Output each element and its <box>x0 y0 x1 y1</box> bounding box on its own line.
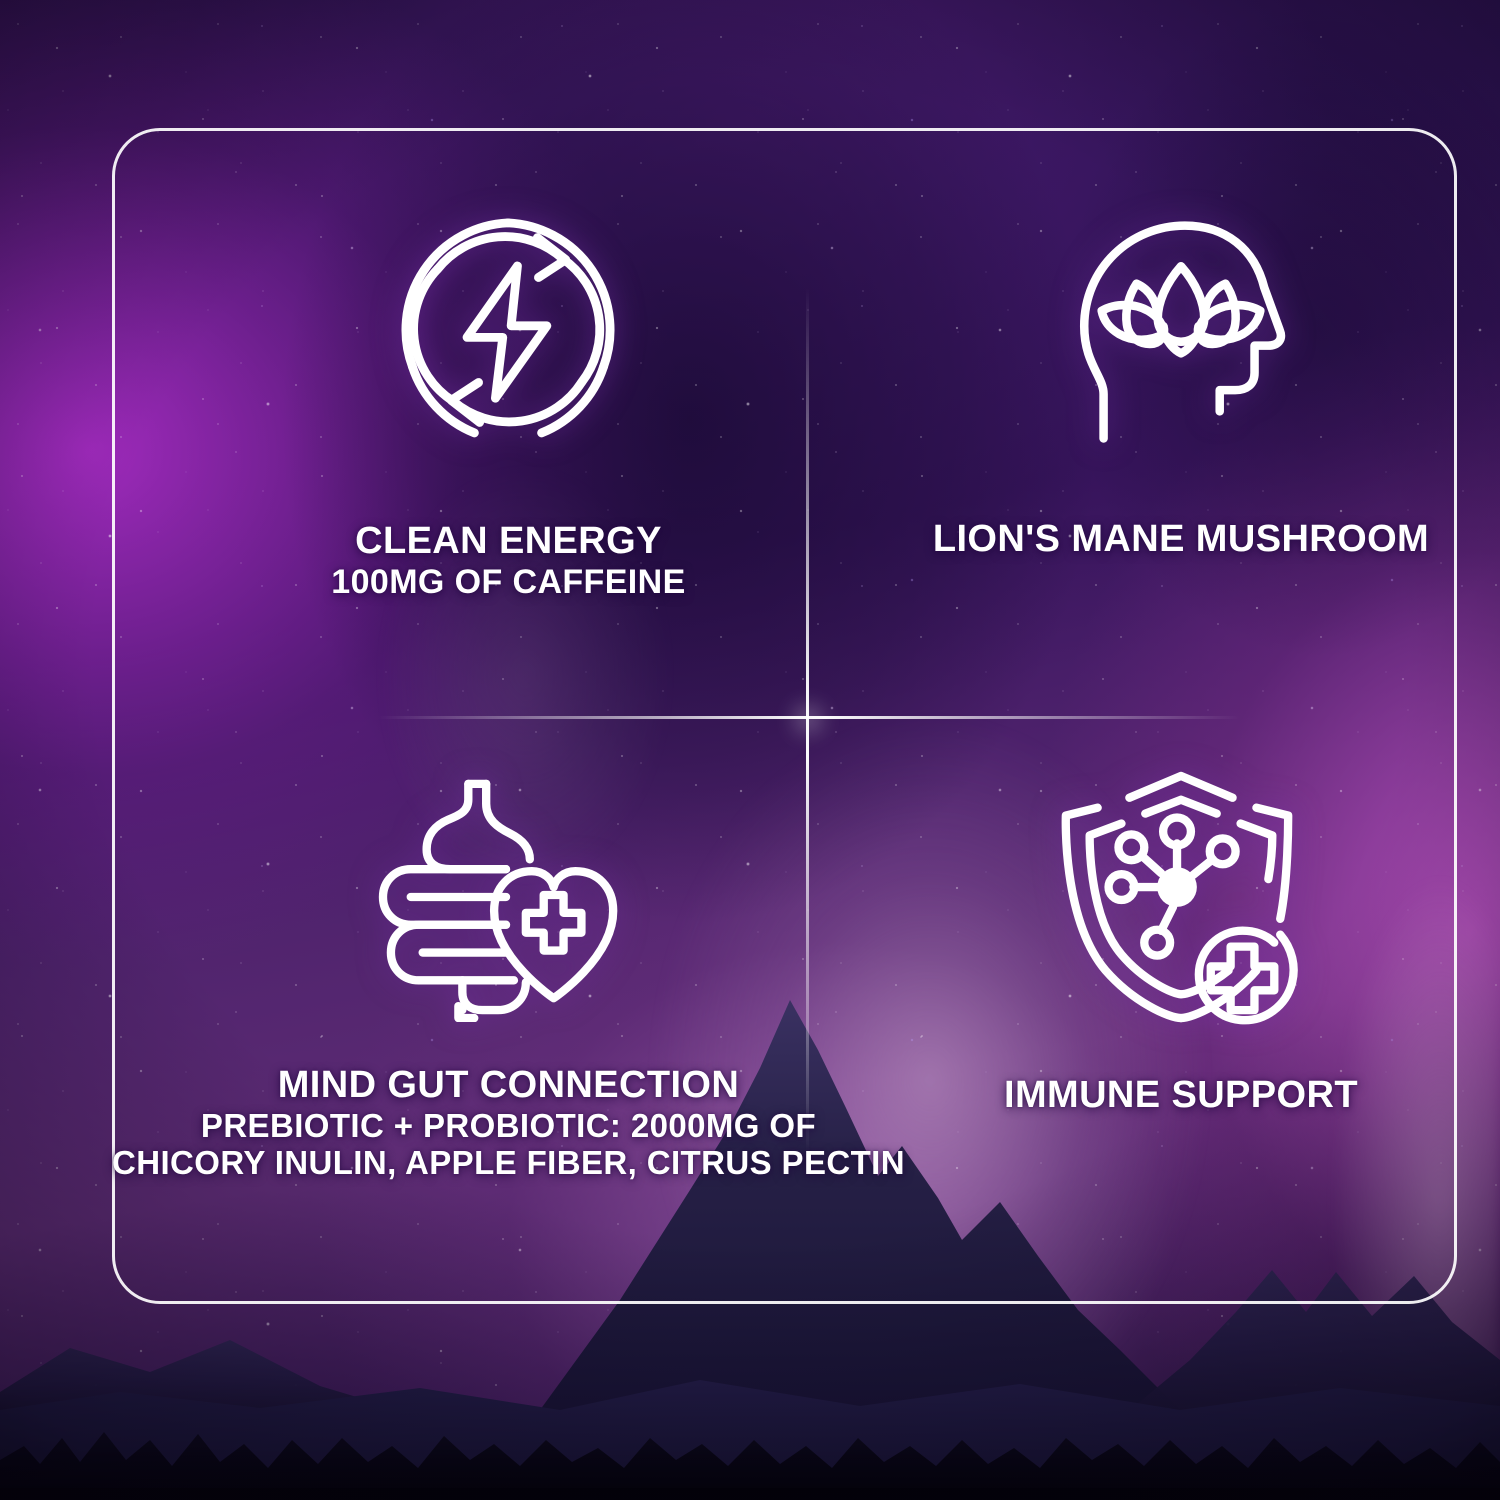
immune-support-labels: IMMUNE SUPPORT <box>1004 1074 1358 1117</box>
immune-support-title: IMMUNE SUPPORT <box>1004 1074 1358 1117</box>
lions-mane-title: LION'S MANE MUSHROOM <box>933 518 1429 561</box>
quadrant-clean-energy[interactable]: CLEAN ENERGY 100MG OF CAFFEINE <box>112 128 905 716</box>
intestine-heart-cross-icon <box>374 768 642 1022</box>
mind-gut-subtitle-line1: PREBIOTIC + PROBIOTIC: 2000MG OF <box>112 1107 905 1145</box>
clean-energy-title: CLEAN ENERGY <box>331 520 685 563</box>
mind-gut-subtitle-line2: CHICORY INULIN, APPLE FIBER, CITRUS PECT… <box>112 1144 905 1182</box>
mind-gut-title: MIND GUT CONNECTION <box>112 1064 905 1107</box>
clean-energy-subtitle: 100MG OF CAFFEINE <box>331 563 685 602</box>
quadrant-mind-gut[interactable]: MIND GUT CONNECTION PREBIOTIC + PROBIOTI… <box>112 716 905 1304</box>
clean-energy-labels: CLEAN ENERGY 100MG OF CAFFEINE <box>331 520 685 601</box>
shield-molecule-cross-icon <box>1050 764 1312 1026</box>
head-lotus-icon <box>1061 210 1301 458</box>
quadrant-lions-mane[interactable]: LION'S MANE MUSHROOM <box>905 128 1457 716</box>
feature-quadrant-grid: CLEAN ENERGY 100MG OF CAFFEINE <box>112 128 1457 1304</box>
lions-mane-labels: LION'S MANE MUSHROOM <box>933 518 1429 561</box>
energy-refresh-bolt-icon <box>382 204 634 456</box>
quadrant-immune-support[interactable]: IMMUNE SUPPORT <box>905 716 1457 1304</box>
mind-gut-labels: MIND GUT CONNECTION PREBIOTIC + PROBIOTI… <box>112 1064 905 1182</box>
product-feature-graphic: CLEAN ENERGY 100MG OF CAFFEINE <box>0 0 1500 1500</box>
